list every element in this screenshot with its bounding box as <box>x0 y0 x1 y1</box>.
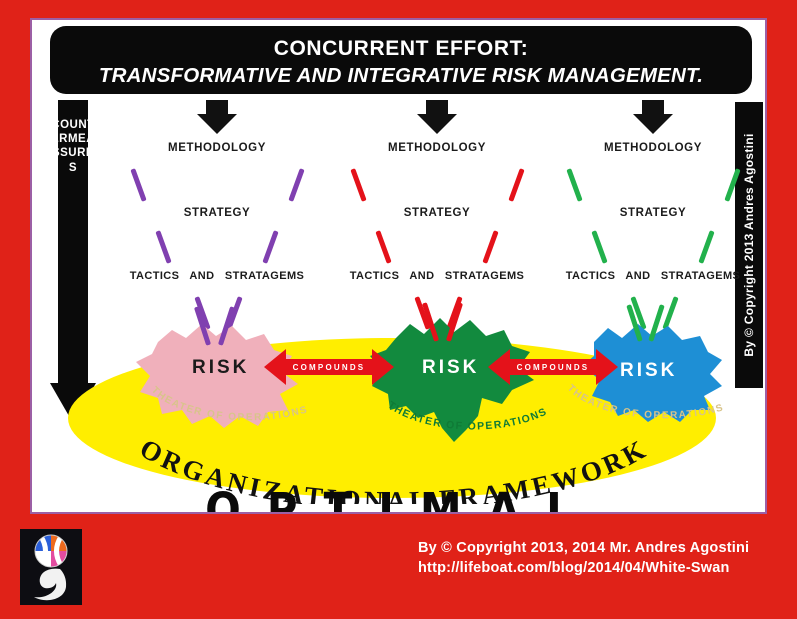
strategy-label: STRATEGY <box>328 207 546 219</box>
footer-line-2: http://lifeboat.com/blog/2014/04/White-S… <box>418 558 749 578</box>
funnel-dash <box>508 168 524 202</box>
title-banner: CONCURRENT EFFORT: TRANSFORMATIVE AND IN… <box>50 26 752 94</box>
countermeasures-label: COUNTERMEASSURES <box>50 118 96 175</box>
funnel-column-2: METHODOLOGY STRATEGY TACTICS AND STRATAG… <box>328 100 546 330</box>
funnel-dash <box>698 230 714 264</box>
funnel-dash <box>375 230 391 264</box>
diagram-panel: CONCURRENT EFFORT: TRANSFORMATIVE AND IN… <box>30 18 767 514</box>
compounds-arrow-1: COMPOUNDS <box>264 346 394 388</box>
title-line-2: TRANSFORMATIVE AND INTEGRATIVE RISK MANA… <box>50 62 752 90</box>
funnel-dash <box>591 230 607 264</box>
funnel-dash <box>482 230 498 264</box>
strategy-label: STRATEGY <box>108 207 326 219</box>
diagram-canvas: CONCURRENT EFFORT: TRANSFORMATIVE AND IN… <box>0 0 797 619</box>
funnel-dash <box>724 168 740 202</box>
methodology-label: METHODOLOGY <box>328 142 546 154</box>
tactics-label: TACTICS AND STRATAGEMS <box>544 270 762 282</box>
risk-label-2: RISK <box>422 357 479 379</box>
title-line-1: CONCURRENT EFFORT: <box>50 35 752 62</box>
footer-credit: By © Copyright 2013, 2014 Mr. Andres Ago… <box>418 538 749 578</box>
logo <box>20 529 82 605</box>
compounds-arrow-2: COMPOUNDS <box>488 346 618 388</box>
down-arrow-icon <box>633 100 673 134</box>
risk-label-1: RISK <box>192 357 249 379</box>
compounds-label-1: COMPOUNDS <box>264 346 394 388</box>
methodology-label: METHODOLOGY <box>544 142 762 154</box>
funnel-column-3: METHODOLOGY STRATEGY TACTICS AND STRATAG… <box>544 100 762 330</box>
funnel-dash <box>288 168 304 202</box>
compounds-label-2: COMPOUNDS <box>488 346 618 388</box>
funnel-column-1: METHODOLOGY STRATEGY TACTICS AND STRATAG… <box>108 100 326 330</box>
down-arrow-icon <box>197 100 237 134</box>
funnel-dash <box>155 230 171 264</box>
logo-mark-icon <box>20 529 82 605</box>
funnel-dash <box>262 230 278 264</box>
tactics-label: TACTICS AND STRATAGEMS <box>108 270 326 282</box>
countermeasures-arrow: COUNTERMEASSURES <box>50 100 96 430</box>
strategy-label: STRATEGY <box>544 207 762 219</box>
down-arrow-icon <box>417 100 457 134</box>
optimal-label: OPTIMAL <box>62 483 742 514</box>
funnel-dash <box>130 168 146 202</box>
methodology-label: METHODOLOGY <box>108 142 326 154</box>
footer-line-1: By © Copyright 2013, 2014 Mr. Andres Ago… <box>418 538 749 558</box>
funnel-dash <box>566 168 582 202</box>
risk-label-3: RISK <box>620 360 677 382</box>
funnel-dash <box>350 168 366 202</box>
tactics-label: TACTICS AND STRATAGEMS <box>328 270 546 282</box>
